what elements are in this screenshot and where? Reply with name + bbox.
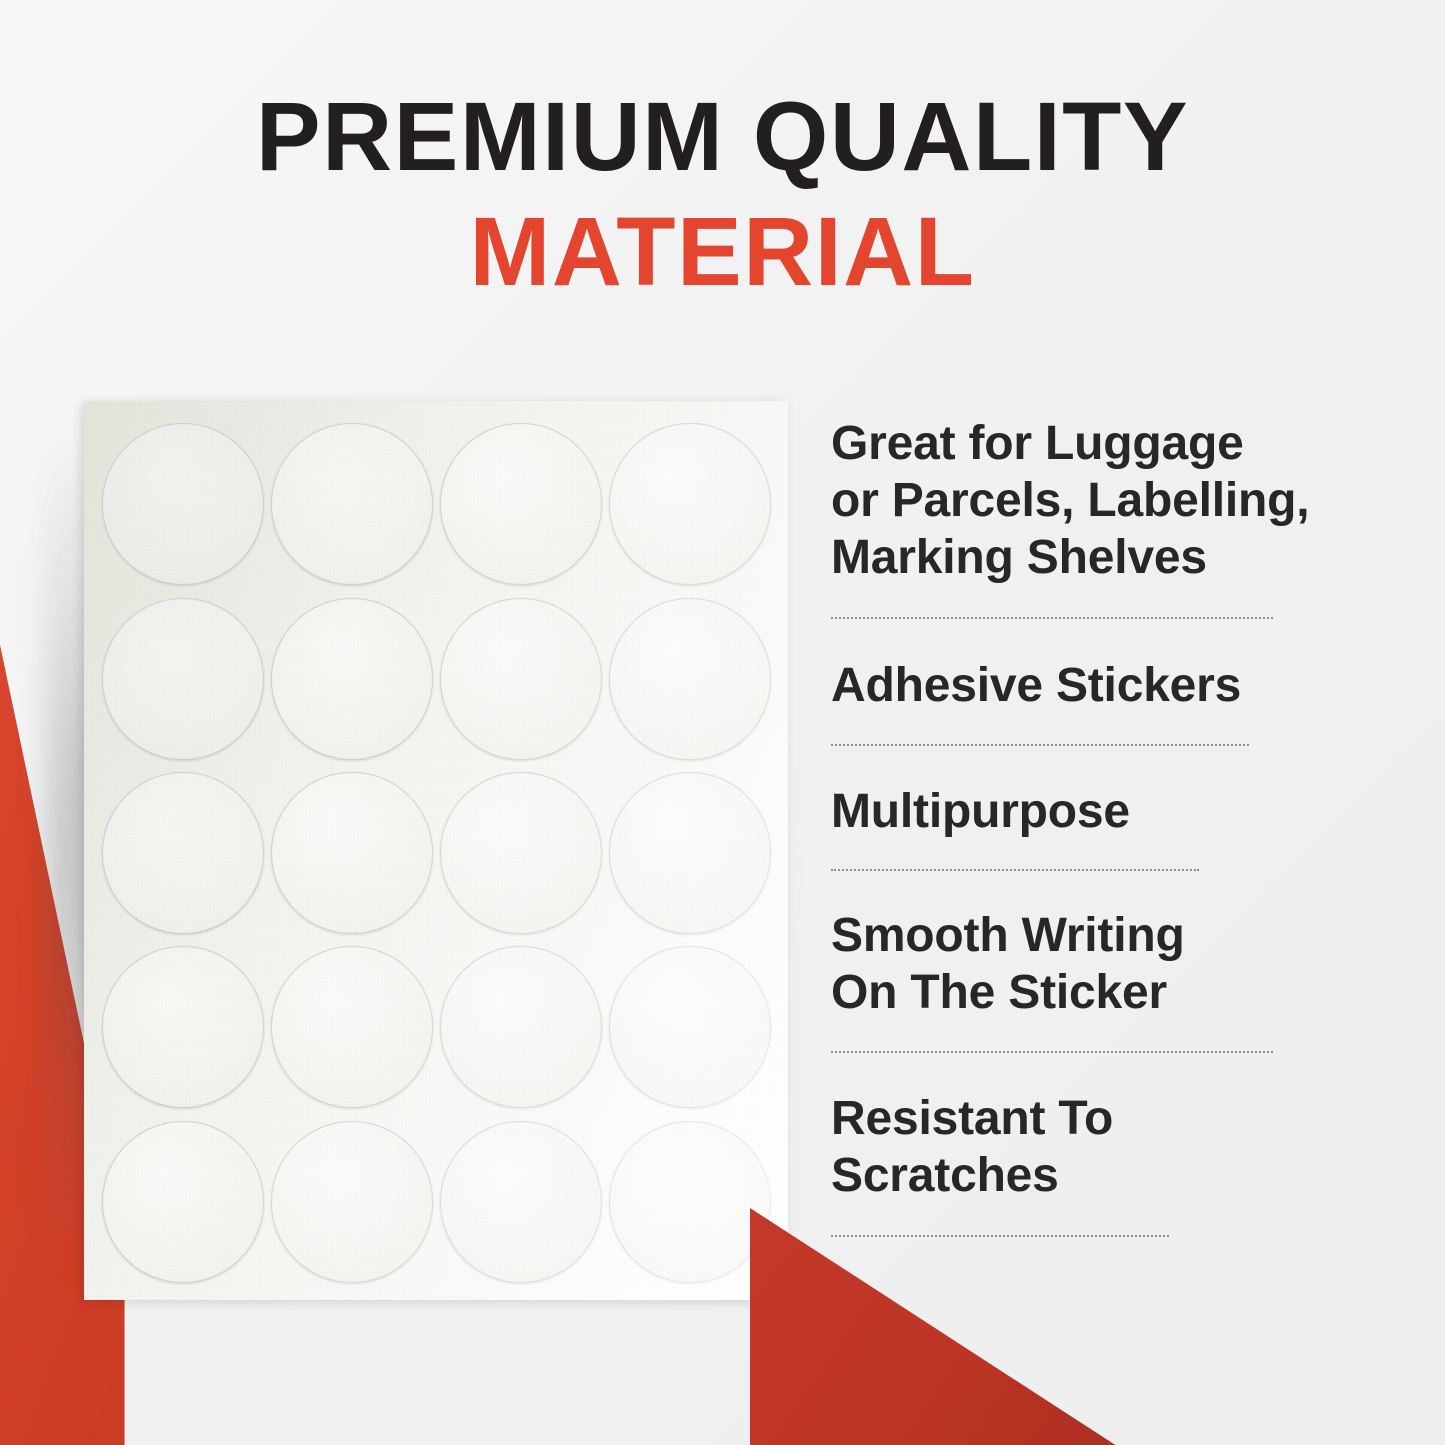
sticker-cell — [436, 940, 605, 1114]
feature-list: Great for Luggage or Parcels, Labelling,… — [831, 415, 1331, 1237]
sticker-dot-icon — [440, 772, 602, 934]
sticker-cell — [267, 766, 436, 940]
feature-label: Smooth Writing On The Sticker — [831, 907, 1331, 1021]
sticker-cell — [605, 1115, 774, 1289]
sticker-dot-icon — [271, 423, 433, 585]
feature-divider — [831, 869, 1199, 871]
feature-item-resistant-to-scratches: Resistant To Scratches — [831, 1090, 1331, 1237]
sticker-dot-icon — [609, 423, 771, 585]
feature-item-adhesive-stickers: Adhesive Stickers — [831, 657, 1331, 746]
feature-label: Resistant To Scratches — [831, 1090, 1331, 1204]
feature-label: Great for Luggage or Parcels, Labelling,… — [831, 415, 1331, 586]
title-line-primary: PREMIUM QUALITY — [0, 86, 1445, 188]
sticker-cell — [267, 591, 436, 765]
sticker-dot-icon — [271, 772, 433, 934]
sticker-cell — [267, 417, 436, 591]
feature-item-multipurpose: Multipurpose — [831, 783, 1331, 871]
sticker-grid — [98, 417, 774, 1289]
sticker-cell — [605, 940, 774, 1114]
sticker-dot-icon — [271, 946, 433, 1108]
infographic-canvas: PREMIUM QUALITY MATERIAL — [0, 0, 1445, 1445]
feature-divider — [831, 744, 1249, 746]
sticker-dot-icon — [440, 423, 602, 585]
sticker-dot-icon — [102, 946, 264, 1108]
product-image-sticker-sheet — [84, 401, 788, 1300]
feature-item-great-for-luggage: Great for Luggage or Parcels, Labelling,… — [831, 415, 1331, 619]
sticker-dot-icon — [440, 946, 602, 1108]
feature-divider — [831, 1051, 1273, 1053]
sticker-dot-icon — [609, 598, 771, 760]
page-title: PREMIUM QUALITY MATERIAL — [0, 86, 1445, 306]
sticker-dot-icon — [102, 772, 264, 934]
sticker-cell — [267, 940, 436, 1114]
feature-divider — [831, 1235, 1169, 1237]
sticker-dot-icon — [609, 1121, 771, 1283]
sticker-dot-icon — [440, 598, 602, 760]
feature-label: Adhesive Stickers — [831, 657, 1331, 714]
sticker-dot-icon — [102, 423, 264, 585]
sticker-cell — [98, 766, 267, 940]
feature-label: Multipurpose — [831, 783, 1331, 840]
sticker-cell — [98, 1115, 267, 1289]
sticker-cell — [98, 591, 267, 765]
sticker-cell — [436, 1115, 605, 1289]
sticker-dot-icon — [271, 1121, 433, 1283]
feature-item-smooth-writing: Smooth Writing On The Sticker — [831, 907, 1331, 1053]
sticker-cell — [436, 591, 605, 765]
title-line-accent: MATERIAL — [0, 198, 1445, 307]
sticker-cell — [605, 591, 774, 765]
feature-divider — [831, 617, 1273, 619]
sticker-dot-icon — [609, 772, 771, 934]
sticker-dot-icon — [609, 946, 771, 1108]
sticker-cell — [436, 766, 605, 940]
sticker-cell — [605, 417, 774, 591]
sticker-dot-icon — [271, 598, 433, 760]
sticker-cell — [98, 417, 267, 591]
sticker-cell — [605, 766, 774, 940]
sticker-dot-icon — [102, 598, 264, 760]
sticker-dot-icon — [440, 1121, 602, 1283]
sticker-dot-icon — [102, 1121, 264, 1283]
sticker-cell — [267, 1115, 436, 1289]
sticker-cell — [436, 417, 605, 591]
sticker-cell — [98, 940, 267, 1114]
